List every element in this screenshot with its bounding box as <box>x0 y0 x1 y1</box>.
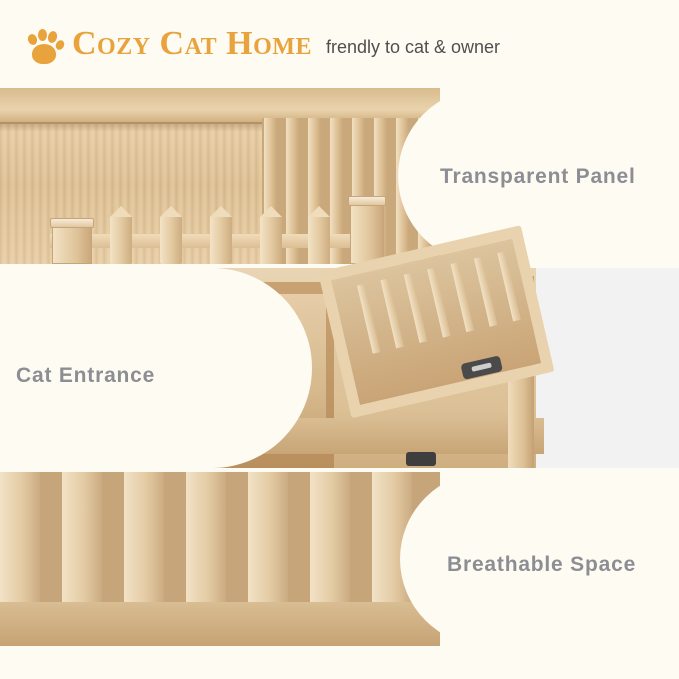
brand-title: Cozy Cat Home <box>72 25 312 63</box>
footer-space <box>0 646 679 679</box>
brand-tagline: frendly to cat & owner <box>326 37 500 58</box>
fence-post-left <box>52 224 92 264</box>
header: Cozy Cat Home frendly to cat & owner <box>0 0 679 88</box>
breathable-floor-edge <box>0 602 440 646</box>
door-lock-catch[interactable] <box>406 452 436 466</box>
paw-icon <box>22 24 66 68</box>
caption-transparent-panel: Transparent Panel <box>440 165 636 189</box>
fence-post-right <box>350 202 384 264</box>
panel-breathable-image <box>0 472 440 646</box>
picket-fence <box>50 208 380 264</box>
caption-breathable-space: Breathable Space <box>447 553 636 577</box>
caption-cat-entrance: Cat Entrance <box>16 364 155 388</box>
product-infographic: Cozy Cat Home frendly to cat & owner <box>0 0 679 679</box>
